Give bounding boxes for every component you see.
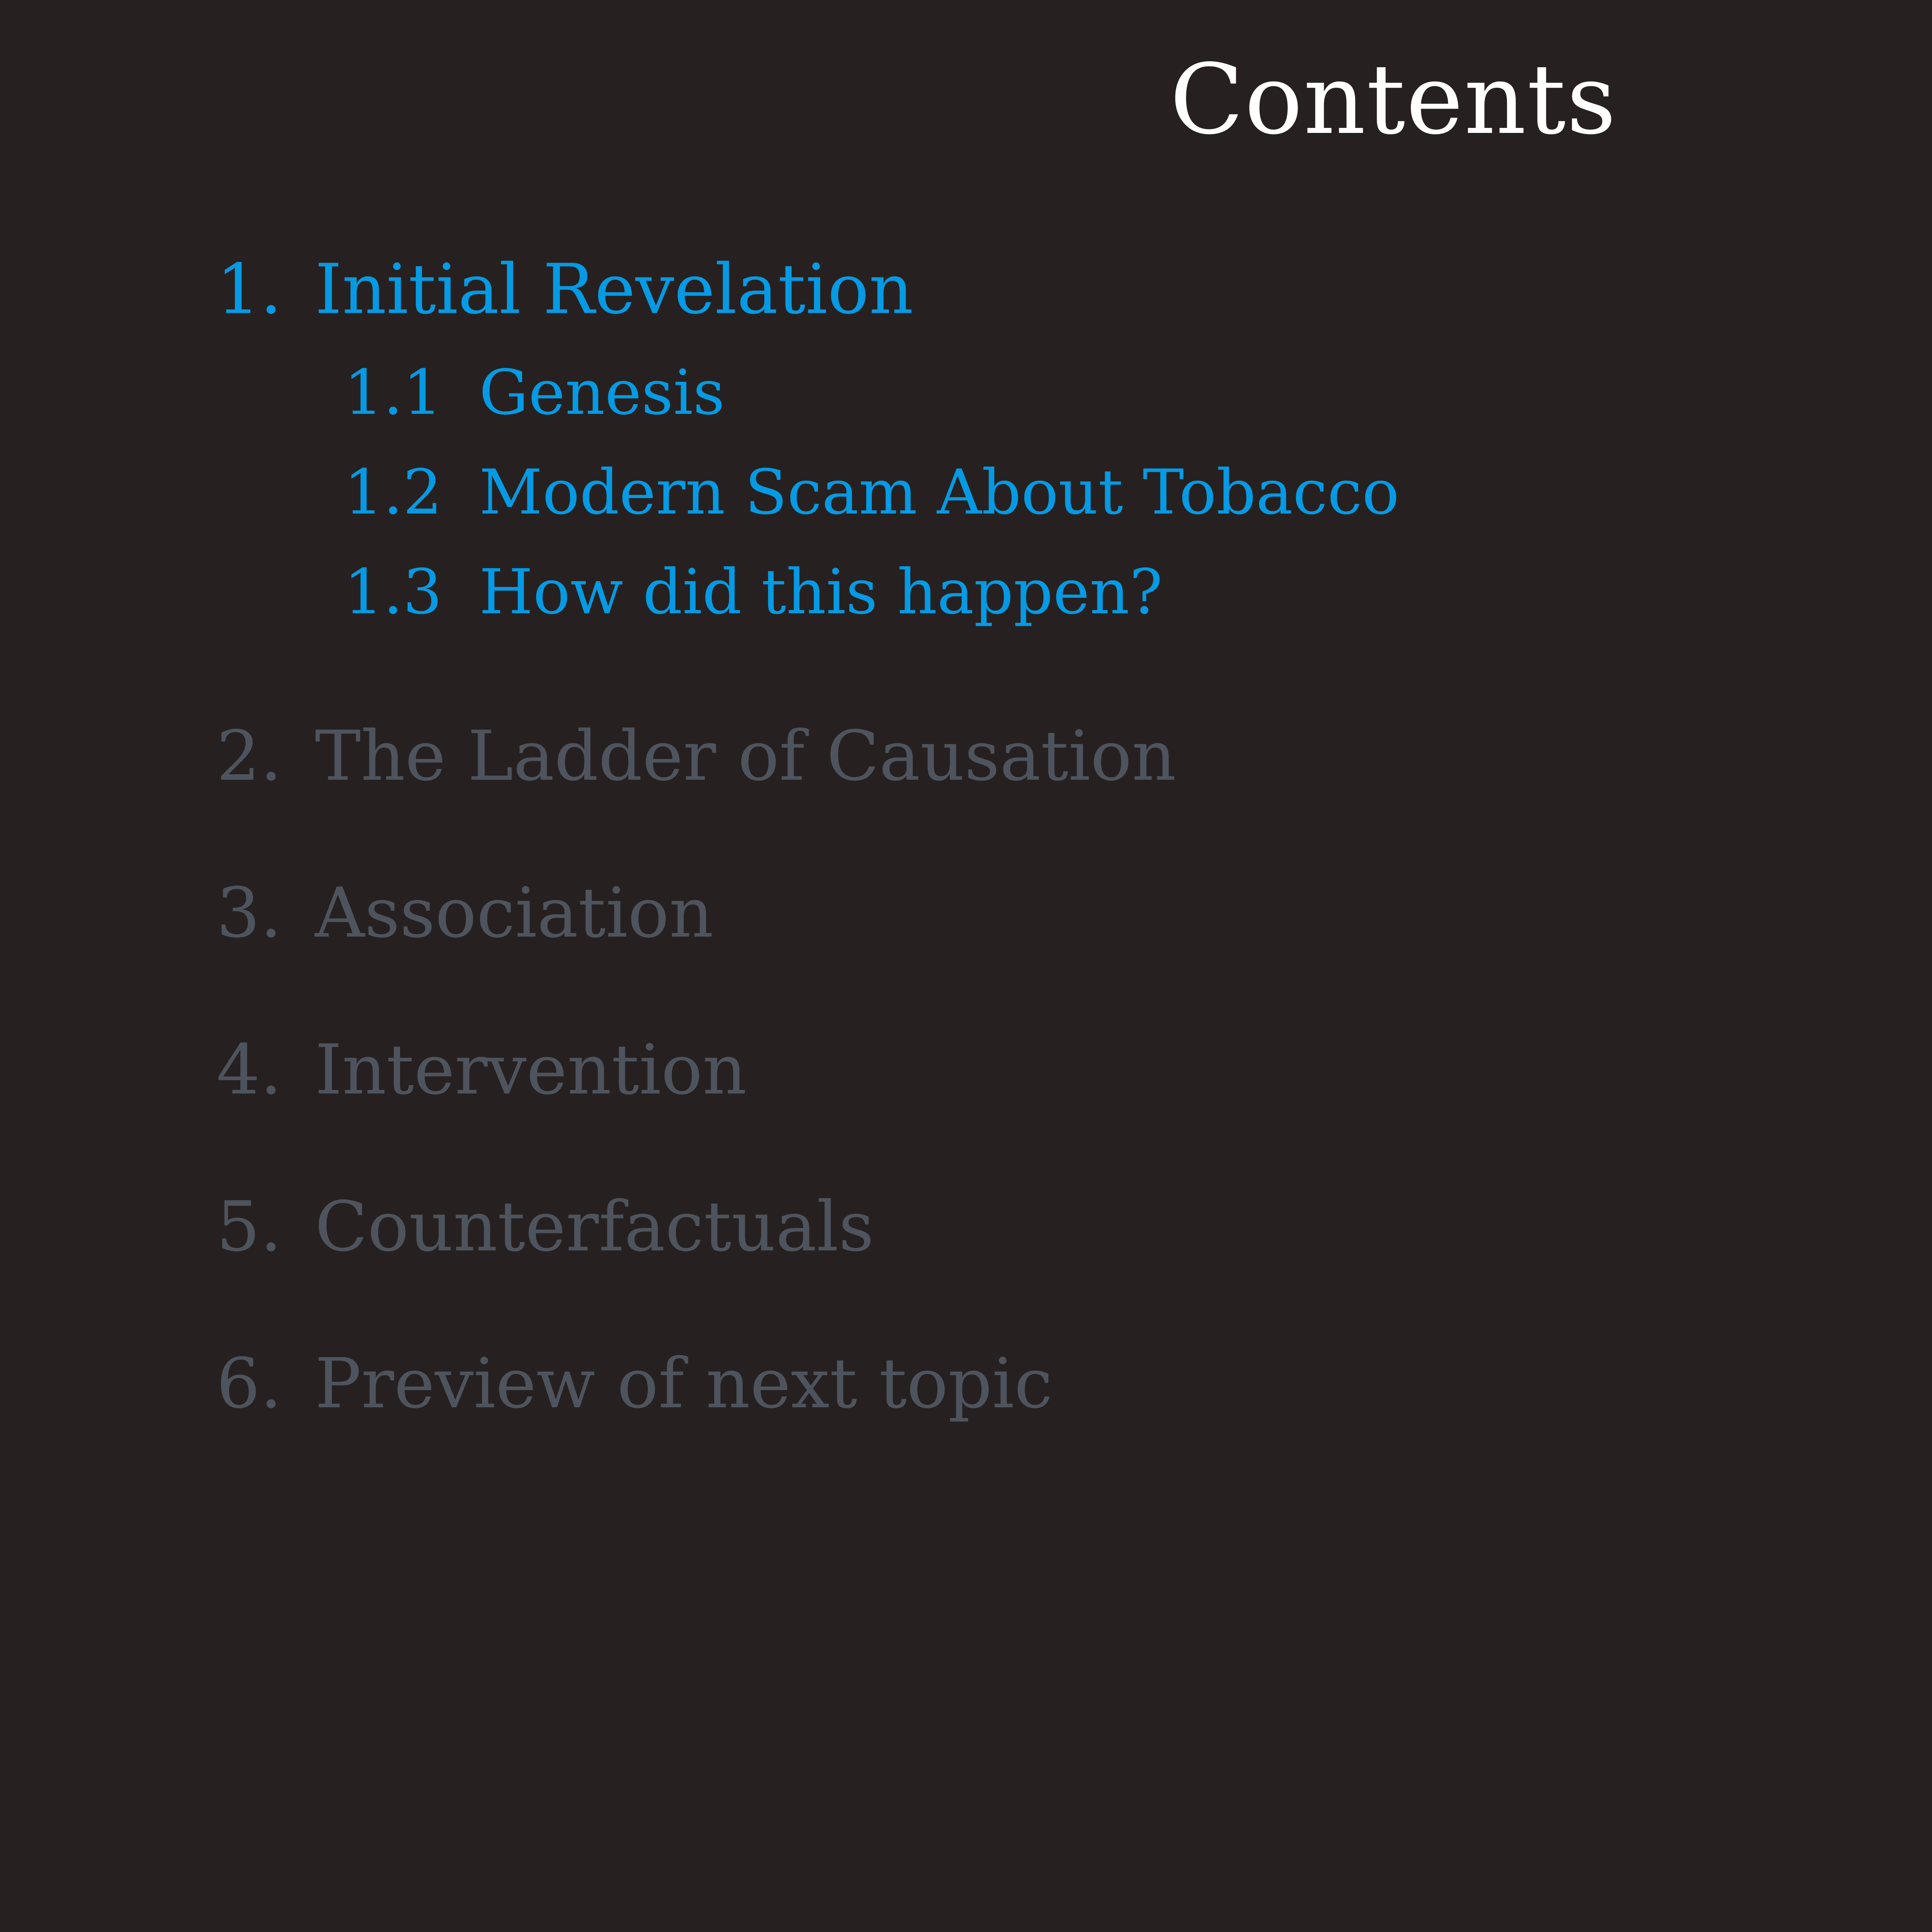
toc-section-number: 4. — [216, 1036, 315, 1104]
toc-entry-section[interactable]: 6. Preview of next topic — [216, 1349, 1932, 1418]
toc-section-2: 2. The Ladder of Causation — [216, 722, 1932, 791]
spacer — [216, 947, 1932, 1036]
toc-entry-subsection[interactable]: 1.3 How did this happen? — [216, 561, 1932, 623]
spacer — [216, 1261, 1932, 1349]
toc-entry-subsection[interactable]: 1.2 Modern Scam About Tobacco — [216, 461, 1932, 523]
toc-section-number: 2. — [216, 722, 315, 791]
spacer — [216, 623, 1932, 722]
toc-section-1: 1. Initial Revelation 1.1 Genesis 1.2 Mo… — [216, 255, 1932, 623]
toc-section-5: 5. Counterfactuals — [216, 1192, 1932, 1261]
toc-section-label: Association — [315, 879, 713, 947]
page-title: Contents — [0, 46, 1932, 153]
toc-section-number: 3. — [216, 879, 315, 947]
toc-subsection-number: 1.1 — [344, 362, 479, 423]
toc-section-label: Initial Revelation — [315, 255, 913, 324]
toc-section-3: 3. Association — [216, 879, 1932, 947]
table-of-contents: 1. Initial Revelation 1.1 Genesis 1.2 Mo… — [216, 255, 1932, 1418]
spacer — [216, 1104, 1932, 1192]
slide-canvas: Contents — [0, 0, 1932, 1932]
toc-section-6: 6. Preview of next topic — [216, 1349, 1932, 1418]
toc-subsection-label: Modern Scam About Tobacco — [479, 461, 1399, 523]
toc-section-number: 5. — [216, 1192, 315, 1261]
spacer — [216, 324, 1932, 362]
toc-entry-section[interactable]: 3. Association — [216, 879, 1932, 947]
toc-section-label: Preview of next topic — [315, 1349, 1053, 1418]
toc-entry-section[interactable]: 1. Initial Revelation — [216, 255, 1932, 324]
toc-section-label: Counterfactuals — [315, 1192, 874, 1261]
spacer — [216, 791, 1932, 879]
toc-subsection-number: 1.2 — [344, 461, 479, 523]
toc-section-number: 6. — [216, 1349, 315, 1418]
toc-section-label: The Ladder of Causation — [315, 722, 1176, 791]
toc-entry-section[interactable]: 4. Intervention — [216, 1036, 1932, 1104]
toc-subsection-label: Genesis — [479, 362, 725, 423]
toc-entry-subsection[interactable]: 1.1 Genesis — [216, 362, 1932, 423]
toc-section-label: Intervention — [315, 1036, 747, 1104]
toc-subsection-number: 1.3 — [344, 561, 479, 623]
toc-entry-section[interactable]: 5. Counterfactuals — [216, 1192, 1932, 1261]
toc-section-4: 4. Intervention — [216, 1036, 1932, 1104]
toc-entry-section[interactable]: 2. The Ladder of Causation — [216, 722, 1932, 791]
toc-subsection-label: How did this happen? — [479, 561, 1163, 623]
toc-section-number: 1. — [216, 255, 315, 324]
